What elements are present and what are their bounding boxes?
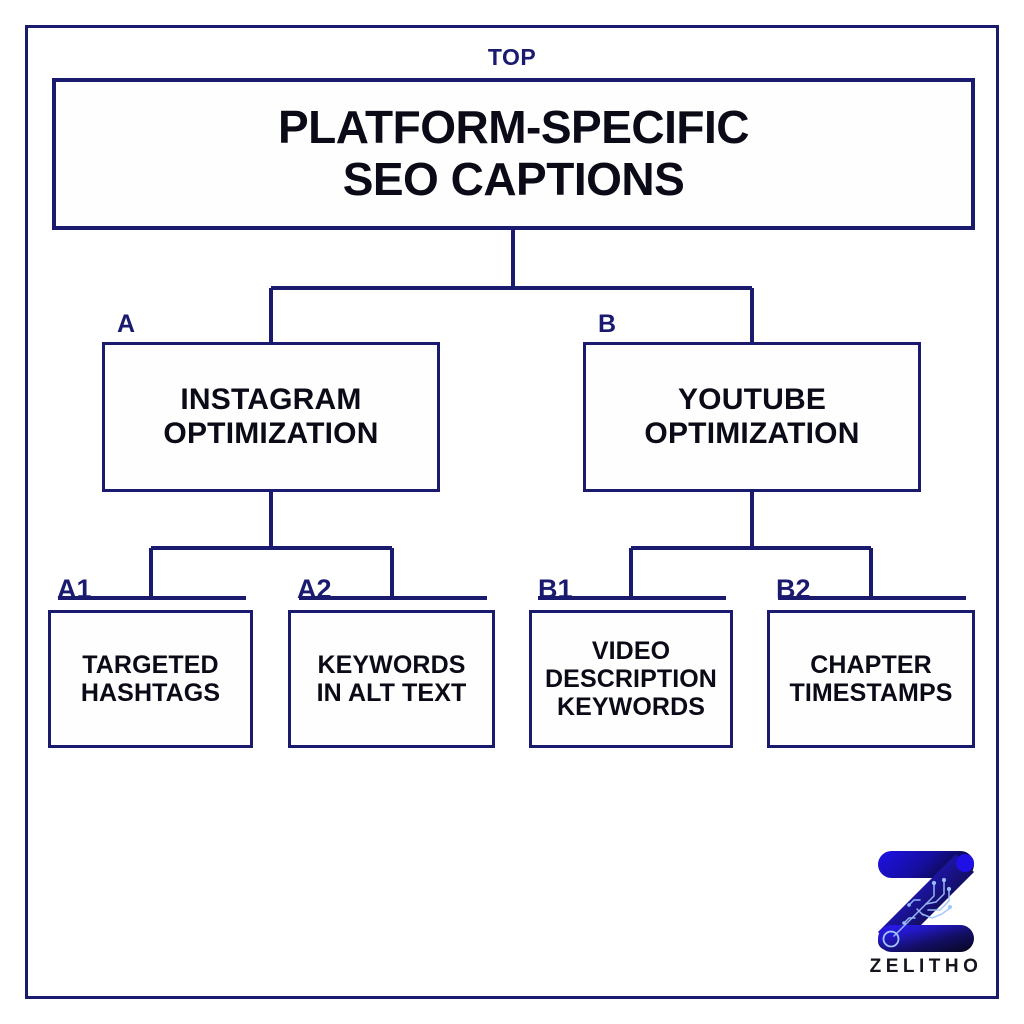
brand-logo: ZELITHO [864,848,988,990]
node-label-b1: VIDEO DESCRIPTION KEYWORDS [537,637,725,721]
node-box-b2: CHAPTER TIMESTAMPS [767,610,975,748]
node-label-b: YOUTUBE OPTIMIZATION [636,383,867,450]
diagram-canvas: TOP A B A1 A2 B1 B2 PLATFORM-SPECIFIC SE… [0,0,1024,1024]
node-label-a1: TARGETED HASHTAGS [73,651,228,707]
node-box-top: PLATFORM-SPECIFIC SEO CAPTIONS [52,78,975,230]
zelitho-circuit-z-logo-icon [870,848,982,956]
node-box-a: INSTAGRAM OPTIMIZATION [102,342,440,492]
node-box-a1: TARGETED HASHTAGS [48,610,253,748]
node-label-a2: KEYWORDS IN ALT TEXT [309,651,475,707]
node-box-b1: VIDEO DESCRIPTION KEYWORDS [529,610,733,748]
logo-wordmark: ZELITHO [864,956,988,978]
node-tag-a2: A2 [297,574,332,605]
node-box-a2: KEYWORDS IN ALT TEXT [288,610,495,748]
node-tag-a: A [117,310,135,339]
node-label-b2: CHAPTER TIMESTAMPS [781,651,960,707]
node-tag-b1: B1 [538,574,573,605]
node-box-b: YOUTUBE OPTIMIZATION [583,342,921,492]
node-label-a: INSTAGRAM OPTIMIZATION [155,383,386,450]
node-tag-top: TOP [0,44,1024,71]
node-label-top: PLATFORM-SPECIFIC SEO CAPTIONS [270,102,757,205]
node-tag-b2: B2 [776,574,811,605]
node-tag-b: B [598,310,616,339]
node-tag-a1: A1 [57,574,92,605]
